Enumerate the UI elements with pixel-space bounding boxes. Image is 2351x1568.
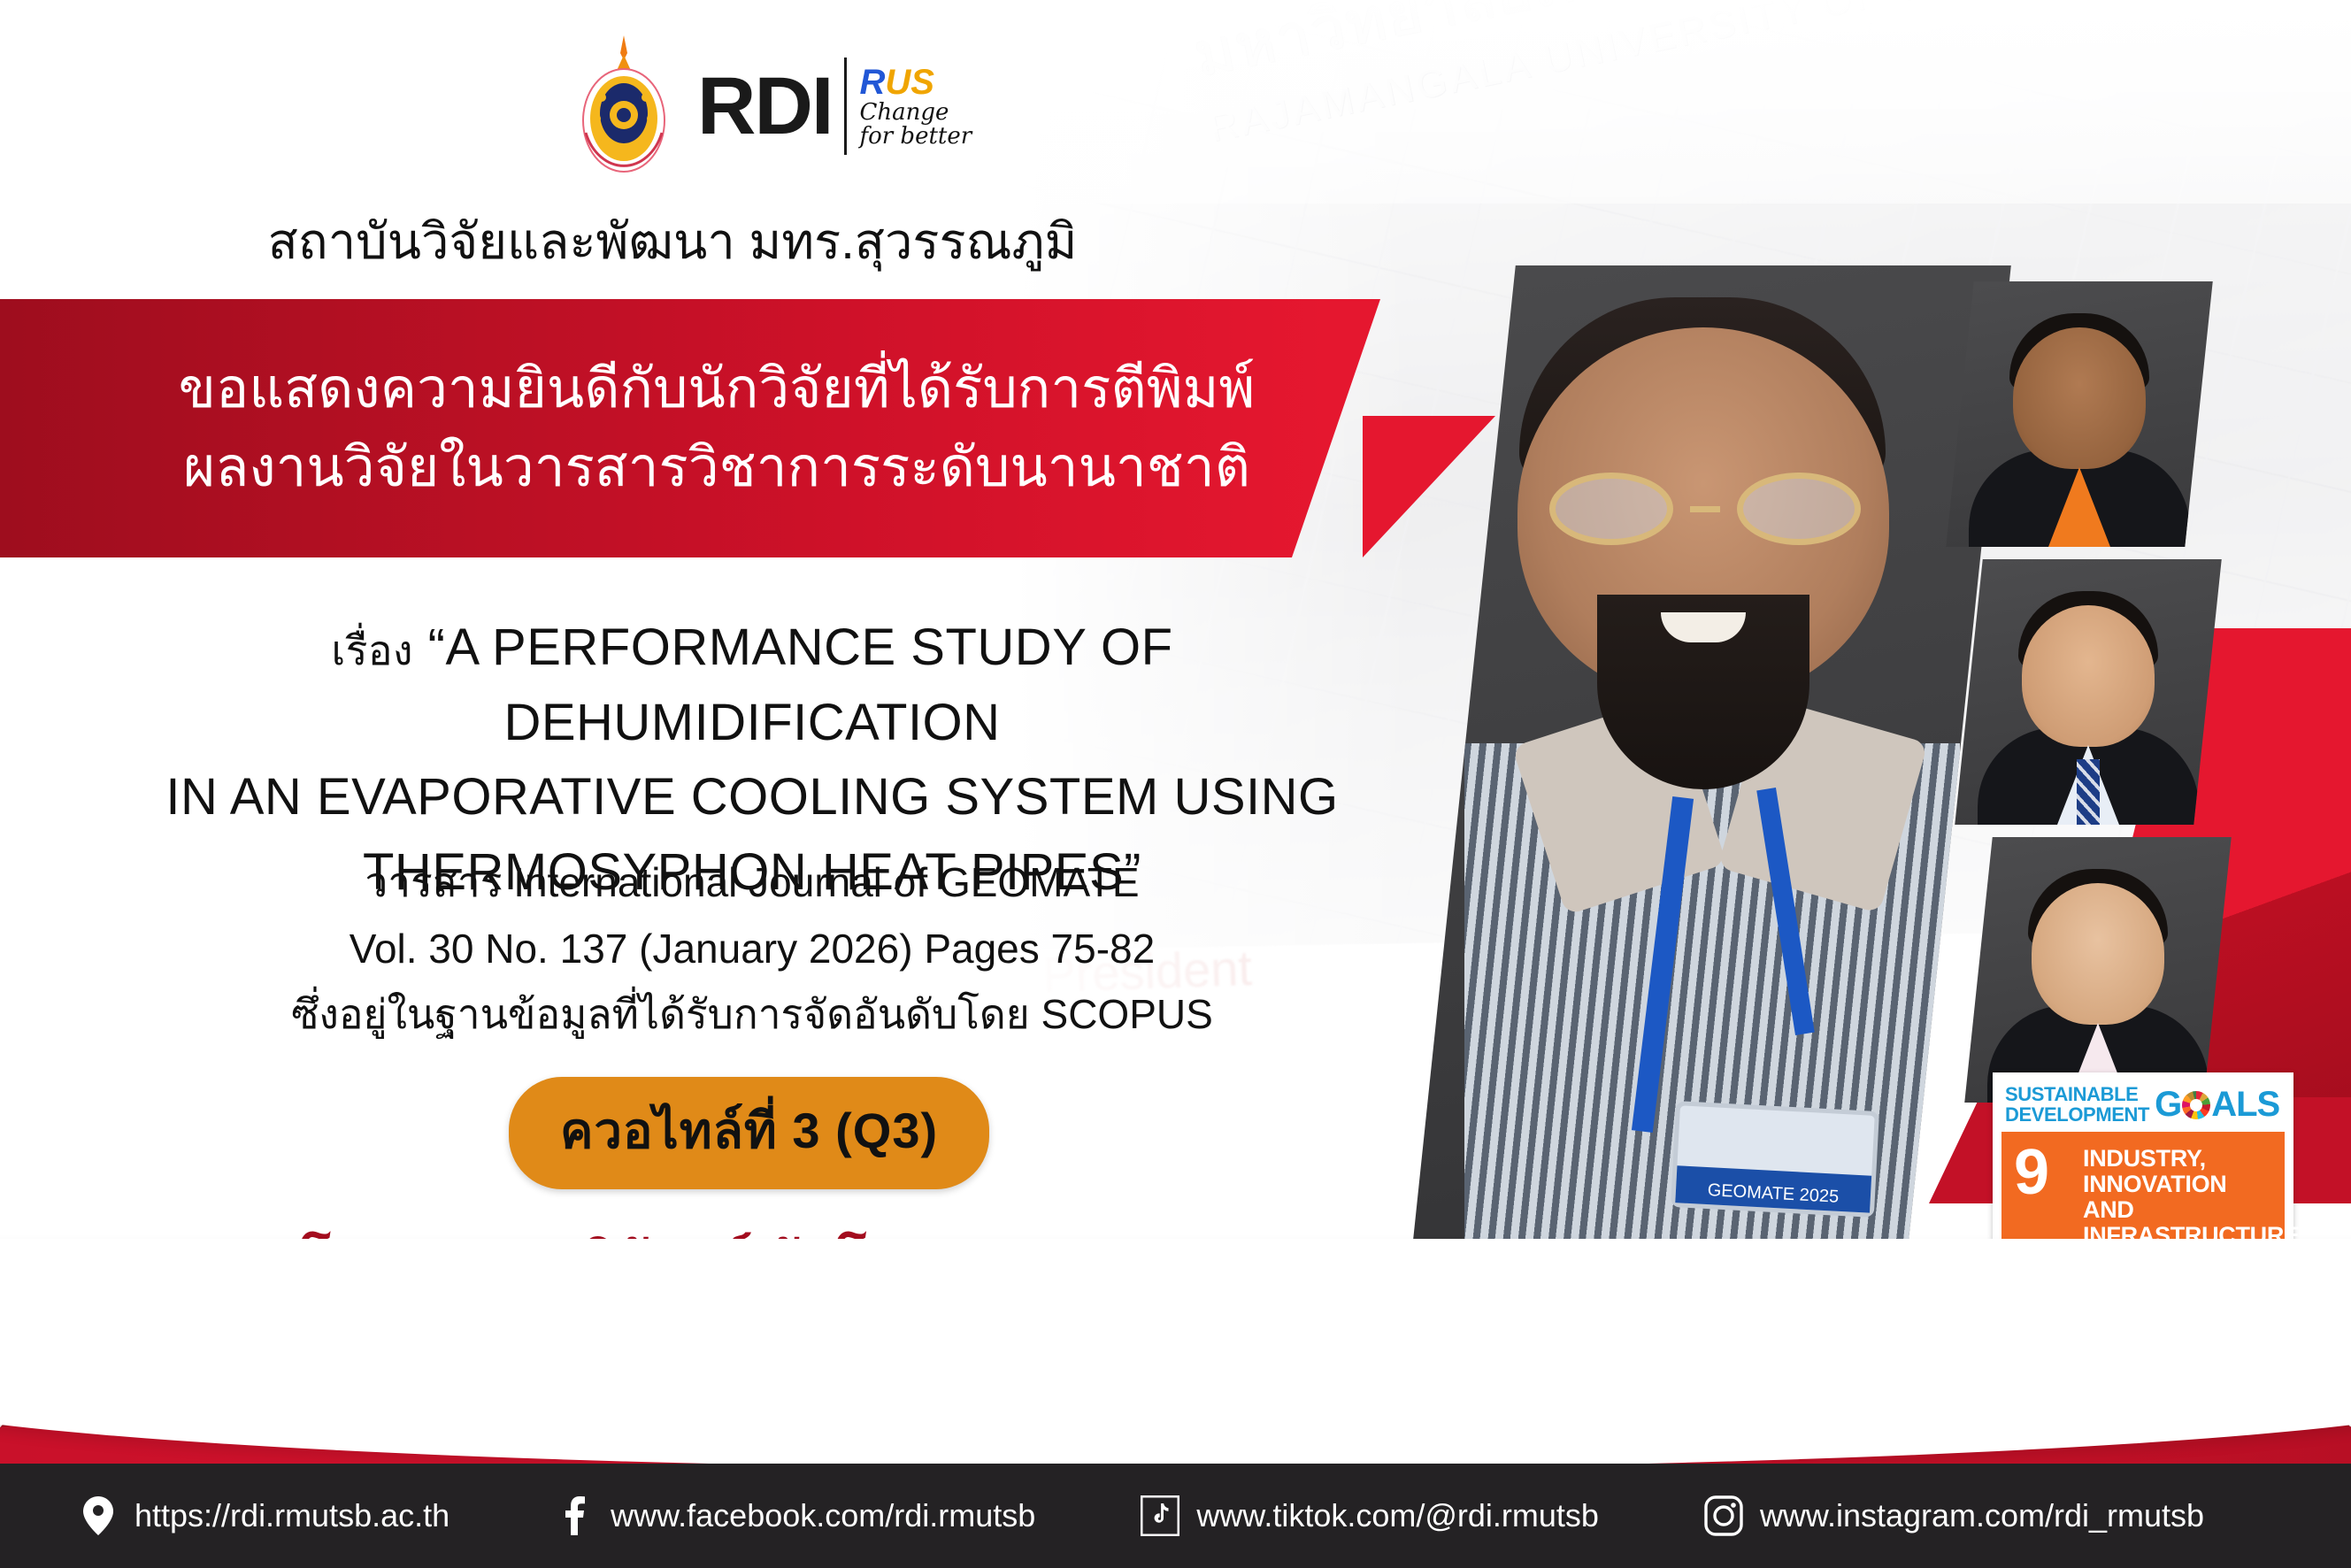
footer-tiktok-text: www.tiktok.com/@rdi.rmutsb <box>1196 1497 1599 1534</box>
rdi-logo: RDI RUS Change for better <box>697 58 972 155</box>
face-graphic <box>2022 605 2155 747</box>
co-researcher-photo-3 <box>1964 837 2232 1103</box>
sdg-line-1: SUSTAINABLE <box>2005 1085 2149 1104</box>
quartile-badge: ควอไทล์ที่ 3 (Q3) <box>509 1077 989 1189</box>
footer-item-facebook[interactable]: www.facebook.com/rdi.rmutsb <box>554 1495 1035 1536</box>
footer-item-instagram[interactable]: www.instagram.com/rdi_rmutsb <box>1703 1495 2204 1536</box>
sdg-header: SUSTAINABLE DEVELOPMENT G ALS <box>2001 1081 2285 1132</box>
footer-item-tiktok[interactable]: www.tiktok.com/@rdi.rmutsb <box>1140 1495 1599 1536</box>
co-researcher-photo-2 <box>1955 559 2222 825</box>
journal-name: วารสาร International Journal of GEOMATE <box>97 849 1407 916</box>
footer-instagram-text: www.instagram.com/rdi_rmutsb <box>1760 1497 2204 1534</box>
sdg-goal-number: 9 <box>2014 1144 2049 1202</box>
rus-r: R <box>859 63 885 102</box>
sdg-goals-g: G <box>2155 1085 2181 1125</box>
banner-line-2: ผลงานวิจัยในวารสารวิชาการระดับนานาชาติ <box>183 436 1374 499</box>
location-pin-icon <box>78 1495 119 1536</box>
bottom-curve-white <box>0 1239 2351 1469</box>
instagram-icon <box>1703 1495 1744 1536</box>
sdg-color-wheel-icon <box>2182 1091 2210 1119</box>
paper-title-text-1: “A PERFORMANCE STUDY OF DEHUMIDIFICATION <box>428 619 1173 751</box>
sdg-goals-wordmark: G ALS <box>2155 1085 2279 1125</box>
footer-item-website[interactable]: https://rdi.rmutsb.ac.th <box>78 1495 449 1536</box>
footer-facebook-text: www.facebook.com/rdi.rmutsb <box>611 1497 1035 1534</box>
organization-name: สถาบันวิจัยและพัฒนา มทร.สุวรรณภูมิ <box>0 202 1345 281</box>
footer-bar: https://rdi.rmutsb.ac.th www.facebook.co… <box>0 1464 2351 1568</box>
journal-issue: Vol. 30 No. 137 (January 2026) Pages 75-… <box>97 916 1407 982</box>
rus-us: US <box>885 63 934 102</box>
journal-index: ซึ่งอยู่ในฐานข้อมูลที่ได้รับการจัดอันดับ… <box>97 981 1407 1048</box>
co-researcher-photo-1 <box>1946 281 2213 547</box>
face-graphic <box>2013 327 2146 469</box>
sdg-goal-title: INDUSTRY, INNOVATION AND INFRASTRUCTURE <box>2083 1146 2278 1249</box>
tagline-line2: for better <box>859 125 972 149</box>
header-logo-row: RDI RUS Change for better <box>566 27 973 186</box>
background-fade-top <box>0 0 2351 204</box>
lead-researcher-photo: GEOMATE 2025 <box>1413 265 2011 1239</box>
paper-label: เรื่อง <box>331 627 413 673</box>
footer-website-text: https://rdi.rmutsb.ac.th <box>134 1497 449 1534</box>
logo-divider <box>844 58 847 155</box>
sdg-line-2: DEVELOPMENT <box>2005 1105 2149 1125</box>
face-graphic <box>2032 883 2164 1025</box>
paper-title-line-2: IN AN EVAPORATIVE COOLING SYSTEM USING <box>97 760 1407 835</box>
necktie-graphic <box>2077 759 2100 825</box>
facebook-icon <box>554 1495 595 1536</box>
paper-title-line-1: เรื่อง “A PERFORMANCE STUDY OF DEHUMIDIF… <box>97 611 1407 760</box>
university-seal-icon <box>566 34 681 180</box>
conference-badge: GEOMATE 2025 <box>1671 1101 1879 1218</box>
glasses-icon <box>1549 471 1861 547</box>
tiktok-icon <box>1140 1495 1180 1536</box>
journal-info-block: วารสาร International Journal of GEOMATE … <box>97 849 1407 1048</box>
rus-wordmark: RUS <box>859 64 972 101</box>
banner-line-1: ขอแสดงความยินดีกับนักวิจัยที่ได้รับการตี… <box>179 357 1379 420</box>
sdg-goal-title-line-1: INDUSTRY, INNOVATION <box>2083 1146 2278 1197</box>
rdi-wordmark: RDI <box>697 70 832 143</box>
sdg-goals-rest: ALS <box>2211 1085 2279 1125</box>
tagline-line1: Change <box>859 101 972 125</box>
